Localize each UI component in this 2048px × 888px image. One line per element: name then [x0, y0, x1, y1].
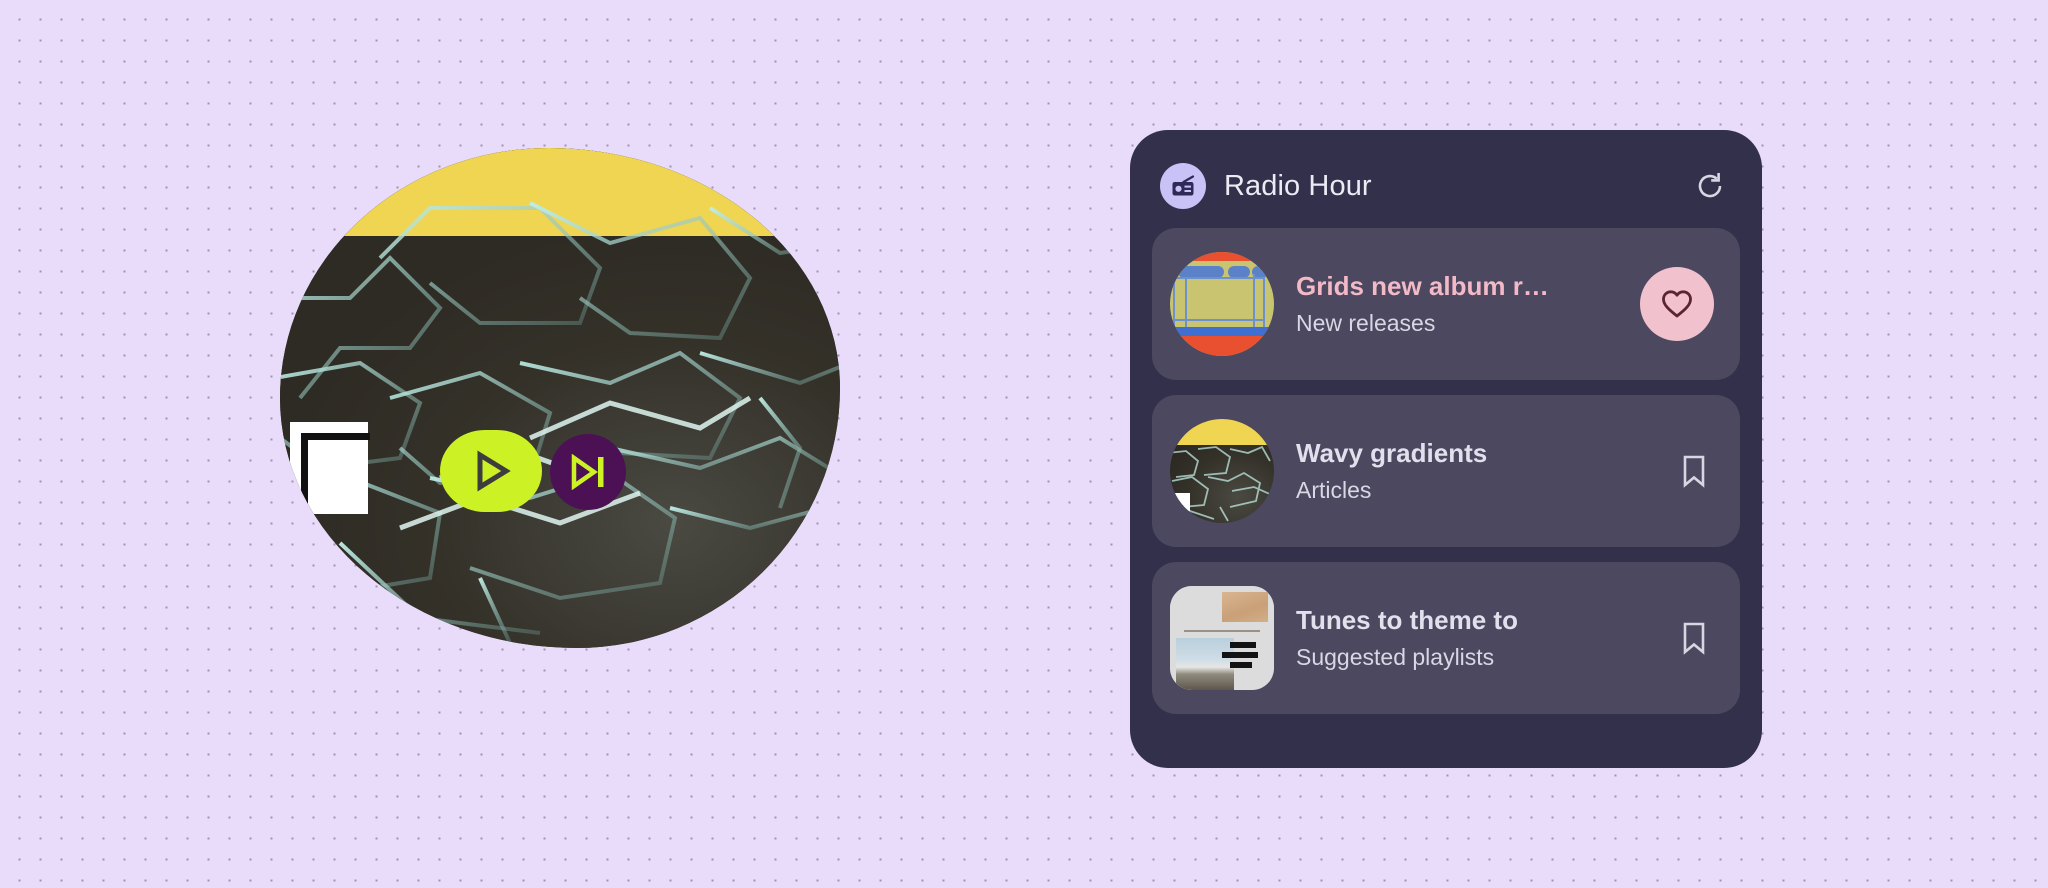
album-artwork-stage [280, 148, 900, 668]
white-square-accent [290, 422, 368, 514]
radio-icon [1160, 163, 1206, 209]
list-item[interactable]: Tunes to theme to Suggested playlists [1152, 562, 1740, 714]
list-item-text: Wavy gradients Articles [1296, 438, 1660, 504]
list-item-subtitle: New releases [1296, 310, 1626, 337]
favorite-button[interactable] [1640, 267, 1714, 341]
card-header: Radio Hour [1152, 152, 1740, 220]
bookmark-button[interactable] [1674, 618, 1714, 658]
list-item[interactable]: Wavy gradients Articles [1152, 395, 1740, 547]
radio-hour-card: Radio Hour [1130, 130, 1762, 768]
play-icon [471, 450, 511, 492]
radio-list: Grids new album r… New releases [1152, 228, 1740, 714]
skip-next-icon [568, 454, 608, 490]
list-item[interactable]: Grids new album r… New releases [1152, 228, 1740, 380]
list-item-title: Wavy gradients [1296, 438, 1660, 469]
list-item-text: Grids new album r… New releases [1296, 271, 1626, 337]
tunes-collage-thumb [1170, 586, 1274, 690]
bookmark-icon [1680, 621, 1708, 655]
grids-album-thumb [1170, 252, 1274, 356]
list-item-title: Tunes to theme to [1296, 605, 1660, 636]
refresh-icon [1694, 170, 1726, 202]
play-button[interactable] [440, 430, 542, 512]
bookmark-button[interactable] [1674, 451, 1714, 491]
heart-icon [1661, 289, 1693, 319]
bookmark-icon [1680, 454, 1708, 488]
list-item-subtitle: Suggested playlists [1296, 644, 1660, 671]
wavy-gradients-thumb [1170, 419, 1274, 523]
next-track-button[interactable] [550, 434, 626, 510]
list-item-text: Tunes to theme to Suggested playlists [1296, 605, 1660, 671]
album-art-blob [280, 148, 840, 648]
geometric-lines-overlay [280, 148, 840, 648]
radio-glyph [1170, 173, 1196, 199]
refresh-button[interactable] [1690, 166, 1730, 206]
page-title: Radio Hour [1224, 170, 1372, 203]
list-item-title: Grids new album r… [1296, 271, 1626, 302]
list-item-subtitle: Articles [1296, 477, 1660, 504]
